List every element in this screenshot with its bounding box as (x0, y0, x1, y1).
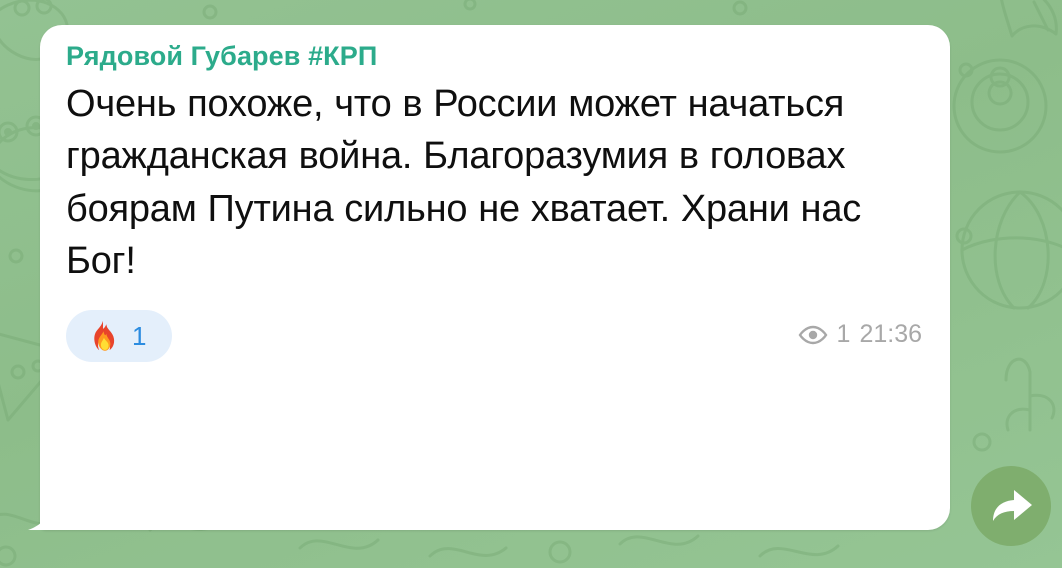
message-sender-name[interactable]: Рядовой Губарев #КРП (66, 41, 928, 72)
reaction-pill-fire[interactable]: 1 (66, 310, 172, 362)
message-text: Очень похоже, что в России может начатьс… (66, 78, 928, 288)
telegram-chat-screen: Рядовой Губарев #КРП Очень похоже, что в… (0, 0, 1062, 568)
view-count: 1 (837, 320, 851, 349)
reaction-count: 1 (132, 323, 146, 349)
message-bubble[interactable]: Рядовой Губарев #КРП Очень похоже, что в… (40, 25, 950, 530)
message-meta: 1 21:36 (798, 320, 928, 351)
forward-button[interactable] (971, 466, 1051, 546)
message-footer: 1 1 21:36 (66, 310, 928, 362)
message-bubble-wrapper: Рядовой Губарев #КРП Очень похоже, что в… (40, 25, 950, 530)
fire-emoji (86, 319, 120, 353)
forward-arrow-icon (989, 486, 1033, 526)
bubble-tail (28, 504, 54, 530)
eye-icon (798, 325, 828, 345)
message-timestamp: 21:36 (859, 320, 922, 349)
